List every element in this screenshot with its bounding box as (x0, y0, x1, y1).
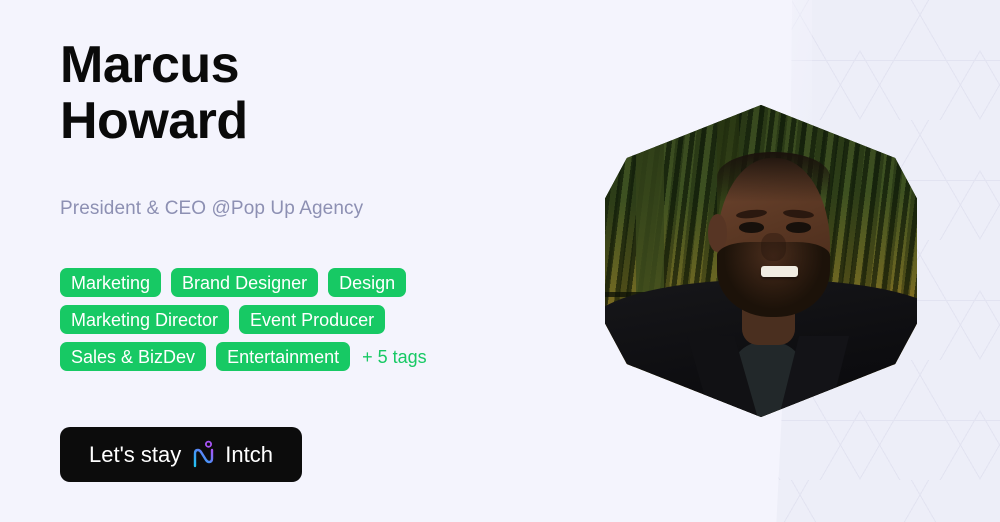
avatar-hexagon-frame (605, 105, 917, 417)
profile-subtitle: President & CEO @Pop Up Agency (60, 198, 363, 220)
profile-card: Marcus Howard President & CEO @Pop Up Ag… (0, 0, 1000, 522)
page-title: Marcus Howard (60, 38, 248, 149)
profile-content: Marcus Howard President & CEO @Pop Up Ag… (60, 0, 600, 522)
intch-n-logo-icon (190, 440, 216, 470)
tag-item[interactable]: Design (328, 268, 406, 297)
cta-label-after: Intch (225, 442, 273, 468)
tag-list: Marketing Brand Designer Design Marketin… (60, 268, 530, 371)
tag-item[interactable]: Marketing (60, 268, 161, 297)
tag-item[interactable]: Event Producer (239, 305, 385, 334)
tags-more-link[interactable]: + 5 tags (360, 348, 427, 366)
tag-item[interactable]: Brand Designer (171, 268, 318, 297)
tag-item[interactable]: Sales & BizDev (60, 342, 206, 371)
avatar (605, 105, 917, 417)
tag-item[interactable]: Marketing Director (60, 305, 229, 334)
tag-item[interactable]: Entertainment (216, 342, 350, 371)
avatar-photo (605, 105, 917, 417)
lets-stay-intch-button[interactable]: Let's stay Intch (60, 427, 302, 482)
cta-label-before: Let's stay (89, 442, 181, 468)
